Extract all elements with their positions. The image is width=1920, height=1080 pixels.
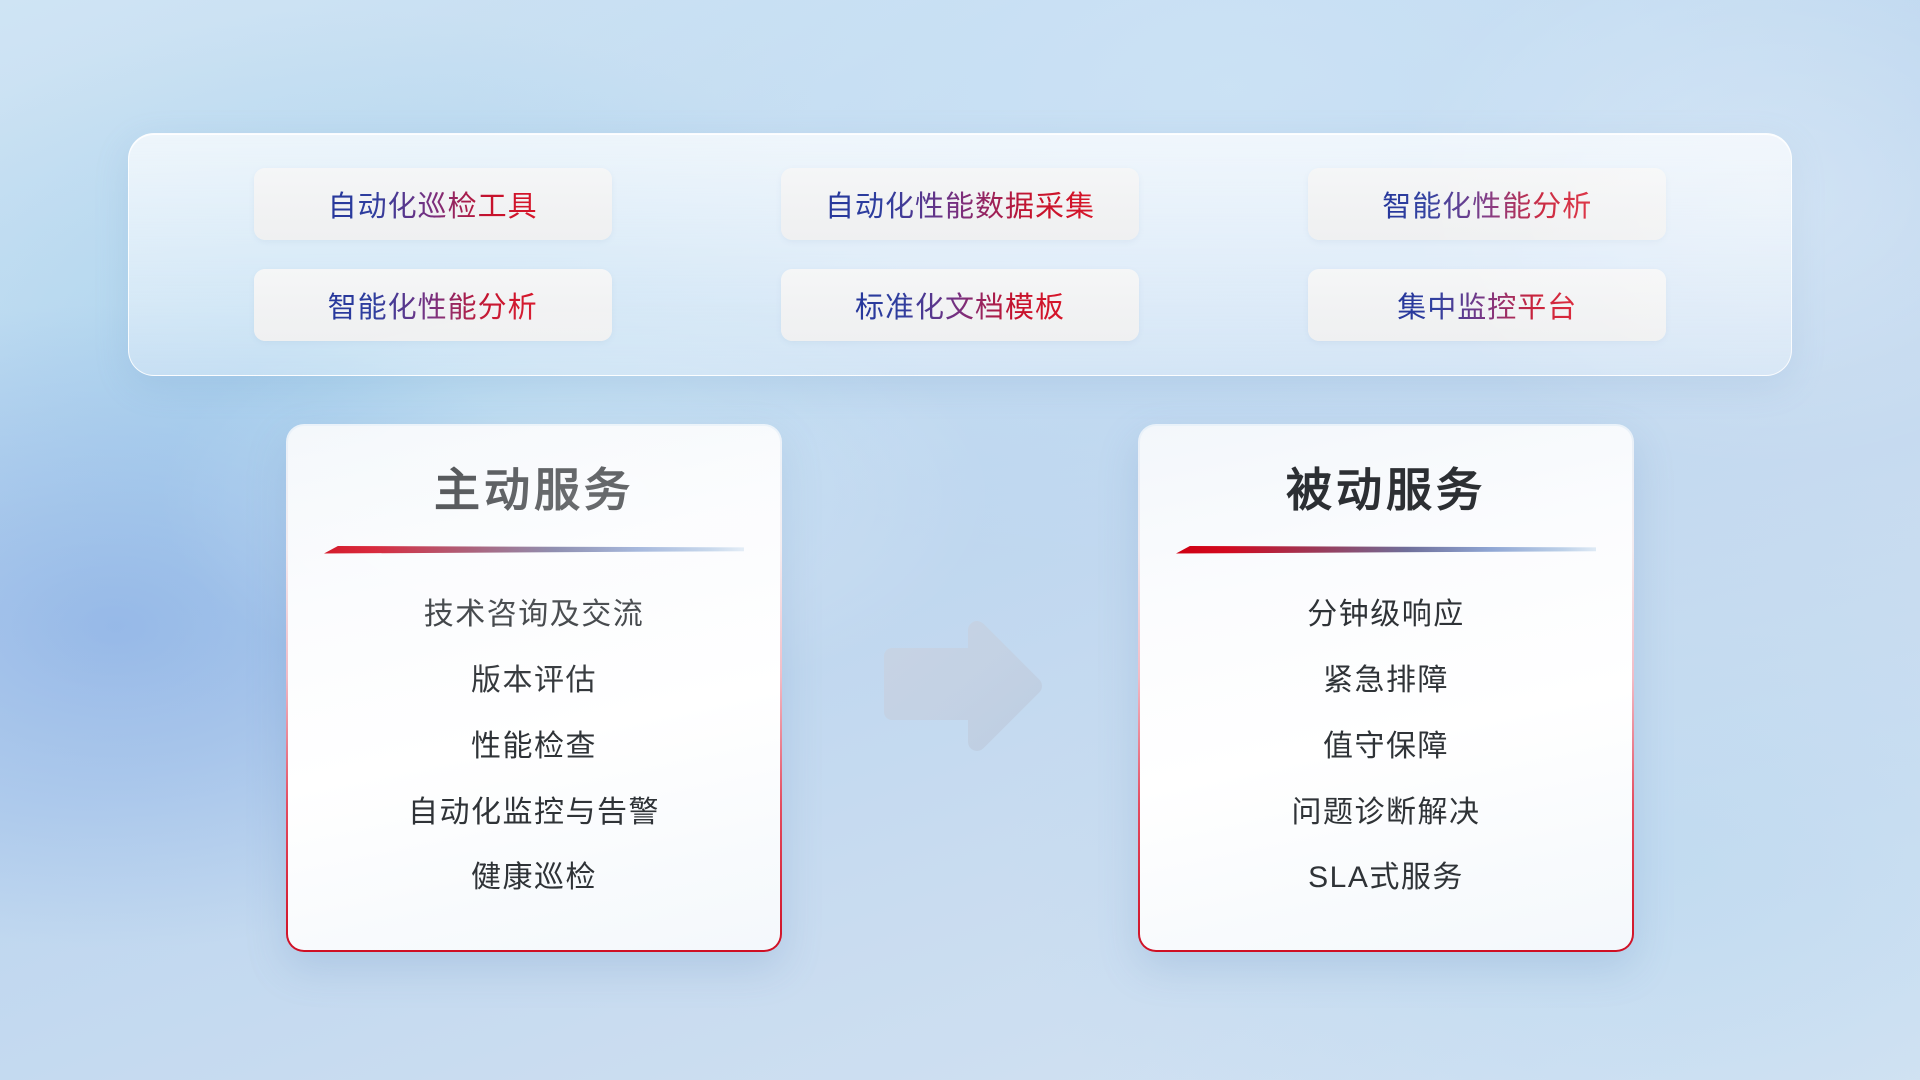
service-card-body: 主动服务 — [288, 426, 780, 950]
list-item: 自动化监控与告警 — [408, 787, 660, 831]
list-item: 健康巡检 — [471, 852, 597, 896]
capability-pill-surface: 智能化性能分析 — [1308, 168, 1666, 240]
capability-pill-surface: 标准化文档模板 — [781, 269, 1139, 341]
service-card-title: 被动服务 — [1176, 462, 1596, 520]
slide-canvas: 自动化巡检工具 自动化性能数据采集 智能化性能分析 智能化性能分析 标准化文档模… — [0, 0, 1920, 1080]
list-item: 技术咨询及交流 — [424, 589, 645, 633]
arrow-right-icon — [876, 616, 1046, 752]
list-item: 问题诊断解决 — [1292, 787, 1481, 831]
card-title-divider — [1176, 542, 1596, 556]
capability-pill[interactable]: 自动化性能数据采集 — [781, 168, 1139, 240]
capability-pill-label: 集中监控平台 — [1397, 284, 1577, 326]
service-card-body: 被动服务 — [1140, 426, 1632, 950]
capability-pill-label: 智能化性能分析 — [1382, 183, 1592, 225]
list-item: 版本评估 — [471, 655, 597, 699]
service-card-list: 技术咨询及交流 版本评估 性能检查 自动化监控与告警 健康巡检 — [324, 556, 744, 925]
service-card-list: 分钟级响应 紧急排障 值守保障 问题诊断解决 SLA式服务 — [1176, 556, 1596, 925]
capability-pill-label: 自动化性能数据采集 — [825, 183, 1095, 225]
capability-pill-surface: 智能化性能分析 — [254, 269, 612, 341]
capability-pill[interactable]: 自动化巡检工具 — [254, 168, 612, 240]
capability-pill-surface: 自动化性能数据采集 — [781, 168, 1139, 240]
capability-pill-label: 智能化性能分析 — [328, 284, 538, 326]
service-card-title: 主动服务 — [324, 462, 744, 520]
capability-pill[interactable]: 标准化文档模板 — [781, 269, 1139, 341]
list-item: SLA式服务 — [1308, 852, 1464, 896]
capability-tags-panel: 自动化巡检工具 自动化性能数据采集 智能化性能分析 智能化性能分析 标准化文档模… — [128, 133, 1792, 376]
capability-pill-surface: 集中监控平台 — [1308, 269, 1666, 341]
list-item: 分钟级响应 — [1307, 589, 1465, 633]
card-title-divider — [324, 542, 744, 556]
capability-pill-label: 自动化巡检工具 — [328, 183, 538, 225]
capability-pill-surface: 自动化巡检工具 — [254, 168, 612, 240]
service-card-passive[interactable]: 被动服务 — [1138, 424, 1634, 952]
list-item: 值守保障 — [1323, 721, 1449, 765]
capability-pill[interactable]: 智能化性能分析 — [1308, 168, 1666, 240]
capability-pill[interactable]: 集中监控平台 — [1308, 269, 1666, 341]
list-item: 紧急排障 — [1323, 655, 1449, 699]
capability-pill[interactable]: 智能化性能分析 — [254, 269, 612, 341]
list-item: 性能检查 — [471, 721, 597, 765]
capability-pill-label: 标准化文档模板 — [855, 284, 1065, 326]
service-card-active[interactable]: 主动服务 — [286, 424, 782, 952]
